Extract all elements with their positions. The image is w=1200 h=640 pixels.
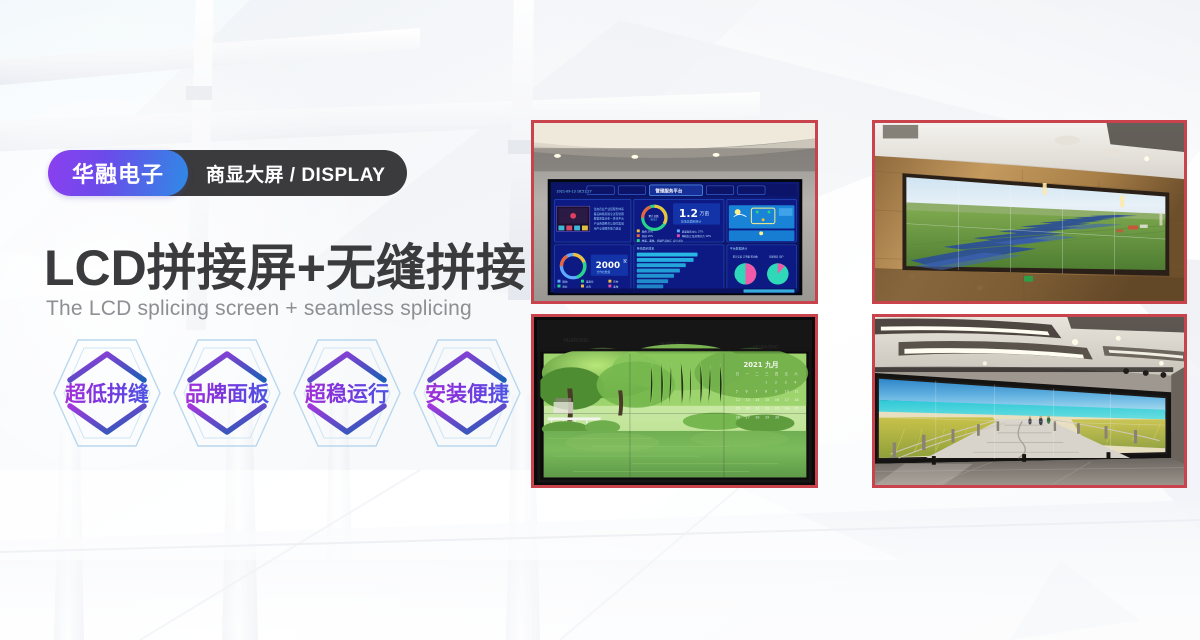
svg-text:2: 2 [775,381,777,385]
svg-text:日: 日 [736,372,739,376]
svg-text:25: 25 [794,407,798,411]
svg-text:在建项目 用户: 在建项目 用户 [769,254,784,258]
svg-text:12: 12 [736,398,740,402]
svg-text:茶园 18%: 茶园 18% [642,234,654,238]
svg-text:药材: 药材 [613,280,619,284]
svg-text:平台数据统计: 平台数据统计 [730,246,748,251]
svg-text:20: 20 [745,407,749,411]
svg-text:数据采集分析一体化平台: 数据采集分析一体化平台 [594,217,624,221]
svg-text:产业资源整合与协同发展: 产业资源整合与协同发展 [594,222,624,226]
gallery-photo-beach[interactable] [872,314,1187,488]
svg-text:用户全域服务能力建设: 用户全域服务能力建设 [594,226,622,230]
svg-text:24: 24 [785,407,789,411]
page-title: LCD拼接屏+无缝拼接 [44,228,526,300]
svg-text:万亩: 万亩 [699,210,709,217]
svg-text:16: 16 [775,398,779,402]
svg-text:30: 30 [775,415,779,419]
svg-text:家: 家 [623,258,627,263]
svg-text:9: 9 [775,389,777,393]
gallery-photo-dashboard[interactable]: 2021-09-13 16:51:27 管理服务平台 生态农业产业链服务体系 覆… [531,120,818,304]
svg-text:26: 26 [736,415,740,419]
svg-text:18: 18 [794,398,798,402]
feature-label: 超稳运行 [305,378,389,408]
feature-label: 超低拼缝 [65,378,149,408]
brand-badge: 华融电子 商显大屏 / DISPLAY [48,150,407,196]
svg-text:1: 1 [765,381,767,385]
svg-text:生态农业产业链服务体系: 生态农业产业链服务体系 [594,207,624,211]
svg-text:5: 5 [736,389,738,393]
gallery-photo-solar[interactable] [872,120,1187,304]
svg-text:11: 11 [794,389,798,393]
svg-text:合作社数量: 合作社数量 [597,270,611,274]
svg-text:6: 6 [745,389,747,393]
svg-text:四: 四 [775,372,778,376]
svg-text:27: 27 [745,415,749,419]
svg-text:水利: 水利 [586,284,592,288]
svg-text:4: 4 [794,381,796,385]
svg-text:14: 14 [755,398,759,402]
svg-text:2021 九月: 2021 九月 [744,360,779,369]
svg-text:1.2: 1.2 [679,207,698,220]
svg-text:23: 23 [775,407,779,411]
feature-item-2[interactable]: 超稳运行 [288,332,406,454]
svg-text:13: 13 [745,398,749,402]
svg-text:28: 28 [755,415,759,419]
feature-label: 安装便捷 [425,378,509,408]
svg-text:21: 21 [755,407,759,411]
feature-item-1[interactable]: 品牌面板 [168,332,286,454]
svg-text:基地总面积统计: 基地总面积统计 [681,219,702,224]
gallery-photo-willow[interactable]: HUARONG HUARONG HUARONG [531,314,818,488]
brand-name: 华融电子 [48,150,188,196]
svg-text:粮食 26%: 粮食 26% [642,229,654,233]
svg-text:2021-09-13 16:51:27: 2021-09-13 16:51:27 [557,190,592,194]
svg-text:种植面积排名: 种植面积排名 [637,246,655,251]
svg-text:17: 17 [785,398,789,402]
svg-text:累计总数: 累计总数 [649,214,660,218]
svg-text:覆盖种植养殖全过程管理: 覆盖种植养殖全过程管理 [594,212,624,216]
svg-text:渔业: 渔业 [562,284,568,288]
feature-label: 品牌面板 [185,378,269,408]
control-room-dashboard-photo: 2021-09-13 16:51:27 管理服务平台 生态农业产业链服务体系 覆… [534,123,815,301]
svg-text:15: 15 [765,398,769,402]
svg-text:林果、畜牧、农副产品加工 合计占比: 林果、畜牧、农副产品加工 合计占比 [642,239,684,243]
svg-text:22: 22 [765,407,769,411]
svg-text:8652: 8652 [651,218,658,222]
svg-text:果蔬业: 果蔬业 [586,280,594,284]
svg-text:3: 3 [785,381,787,385]
svg-text:10: 10 [785,389,789,393]
svg-text:畜牧: 畜牧 [613,284,619,288]
svg-text:7: 7 [755,389,757,393]
svg-text:蔬果服务中心 37%: 蔬果服务中心 37% [682,229,704,233]
feature-item-3[interactable]: 安装便捷 [408,332,526,454]
svg-text:粮油: 粮油 [562,280,568,284]
svg-text:种植加工及其他综合 19%: 种植加工及其他综合 19% [682,234,712,238]
svg-text:29: 29 [765,415,769,419]
page-subtitle: The LCD splicing screen + seamless splic… [46,297,472,321]
lobby-video-wall-beach-photo [875,317,1184,485]
svg-text:累计交易 订单量 签约数: 累计交易 订单量 签约数 [733,254,759,258]
svg-text:管理服务平台: 管理服务平台 [655,188,683,195]
svg-text:HUARONG: HUARONG [563,338,589,344]
wood-wall-video-wall-solar-photo [875,123,1184,301]
svg-text:8: 8 [765,389,767,393]
svg-text:19: 19 [736,407,740,411]
feature-item-0[interactable]: 超低拼缝 [48,332,166,454]
promo-banner: 华融电子 商显大屏 / DISPLAY LCD拼接屏+无缝拼接 The LCD … [0,0,1200,640]
lcd-wall-willow-lake-photo: HUARONG HUARONG HUARONG [534,317,815,485]
feature-list: 超低拼缝 品牌面板 [48,332,526,454]
